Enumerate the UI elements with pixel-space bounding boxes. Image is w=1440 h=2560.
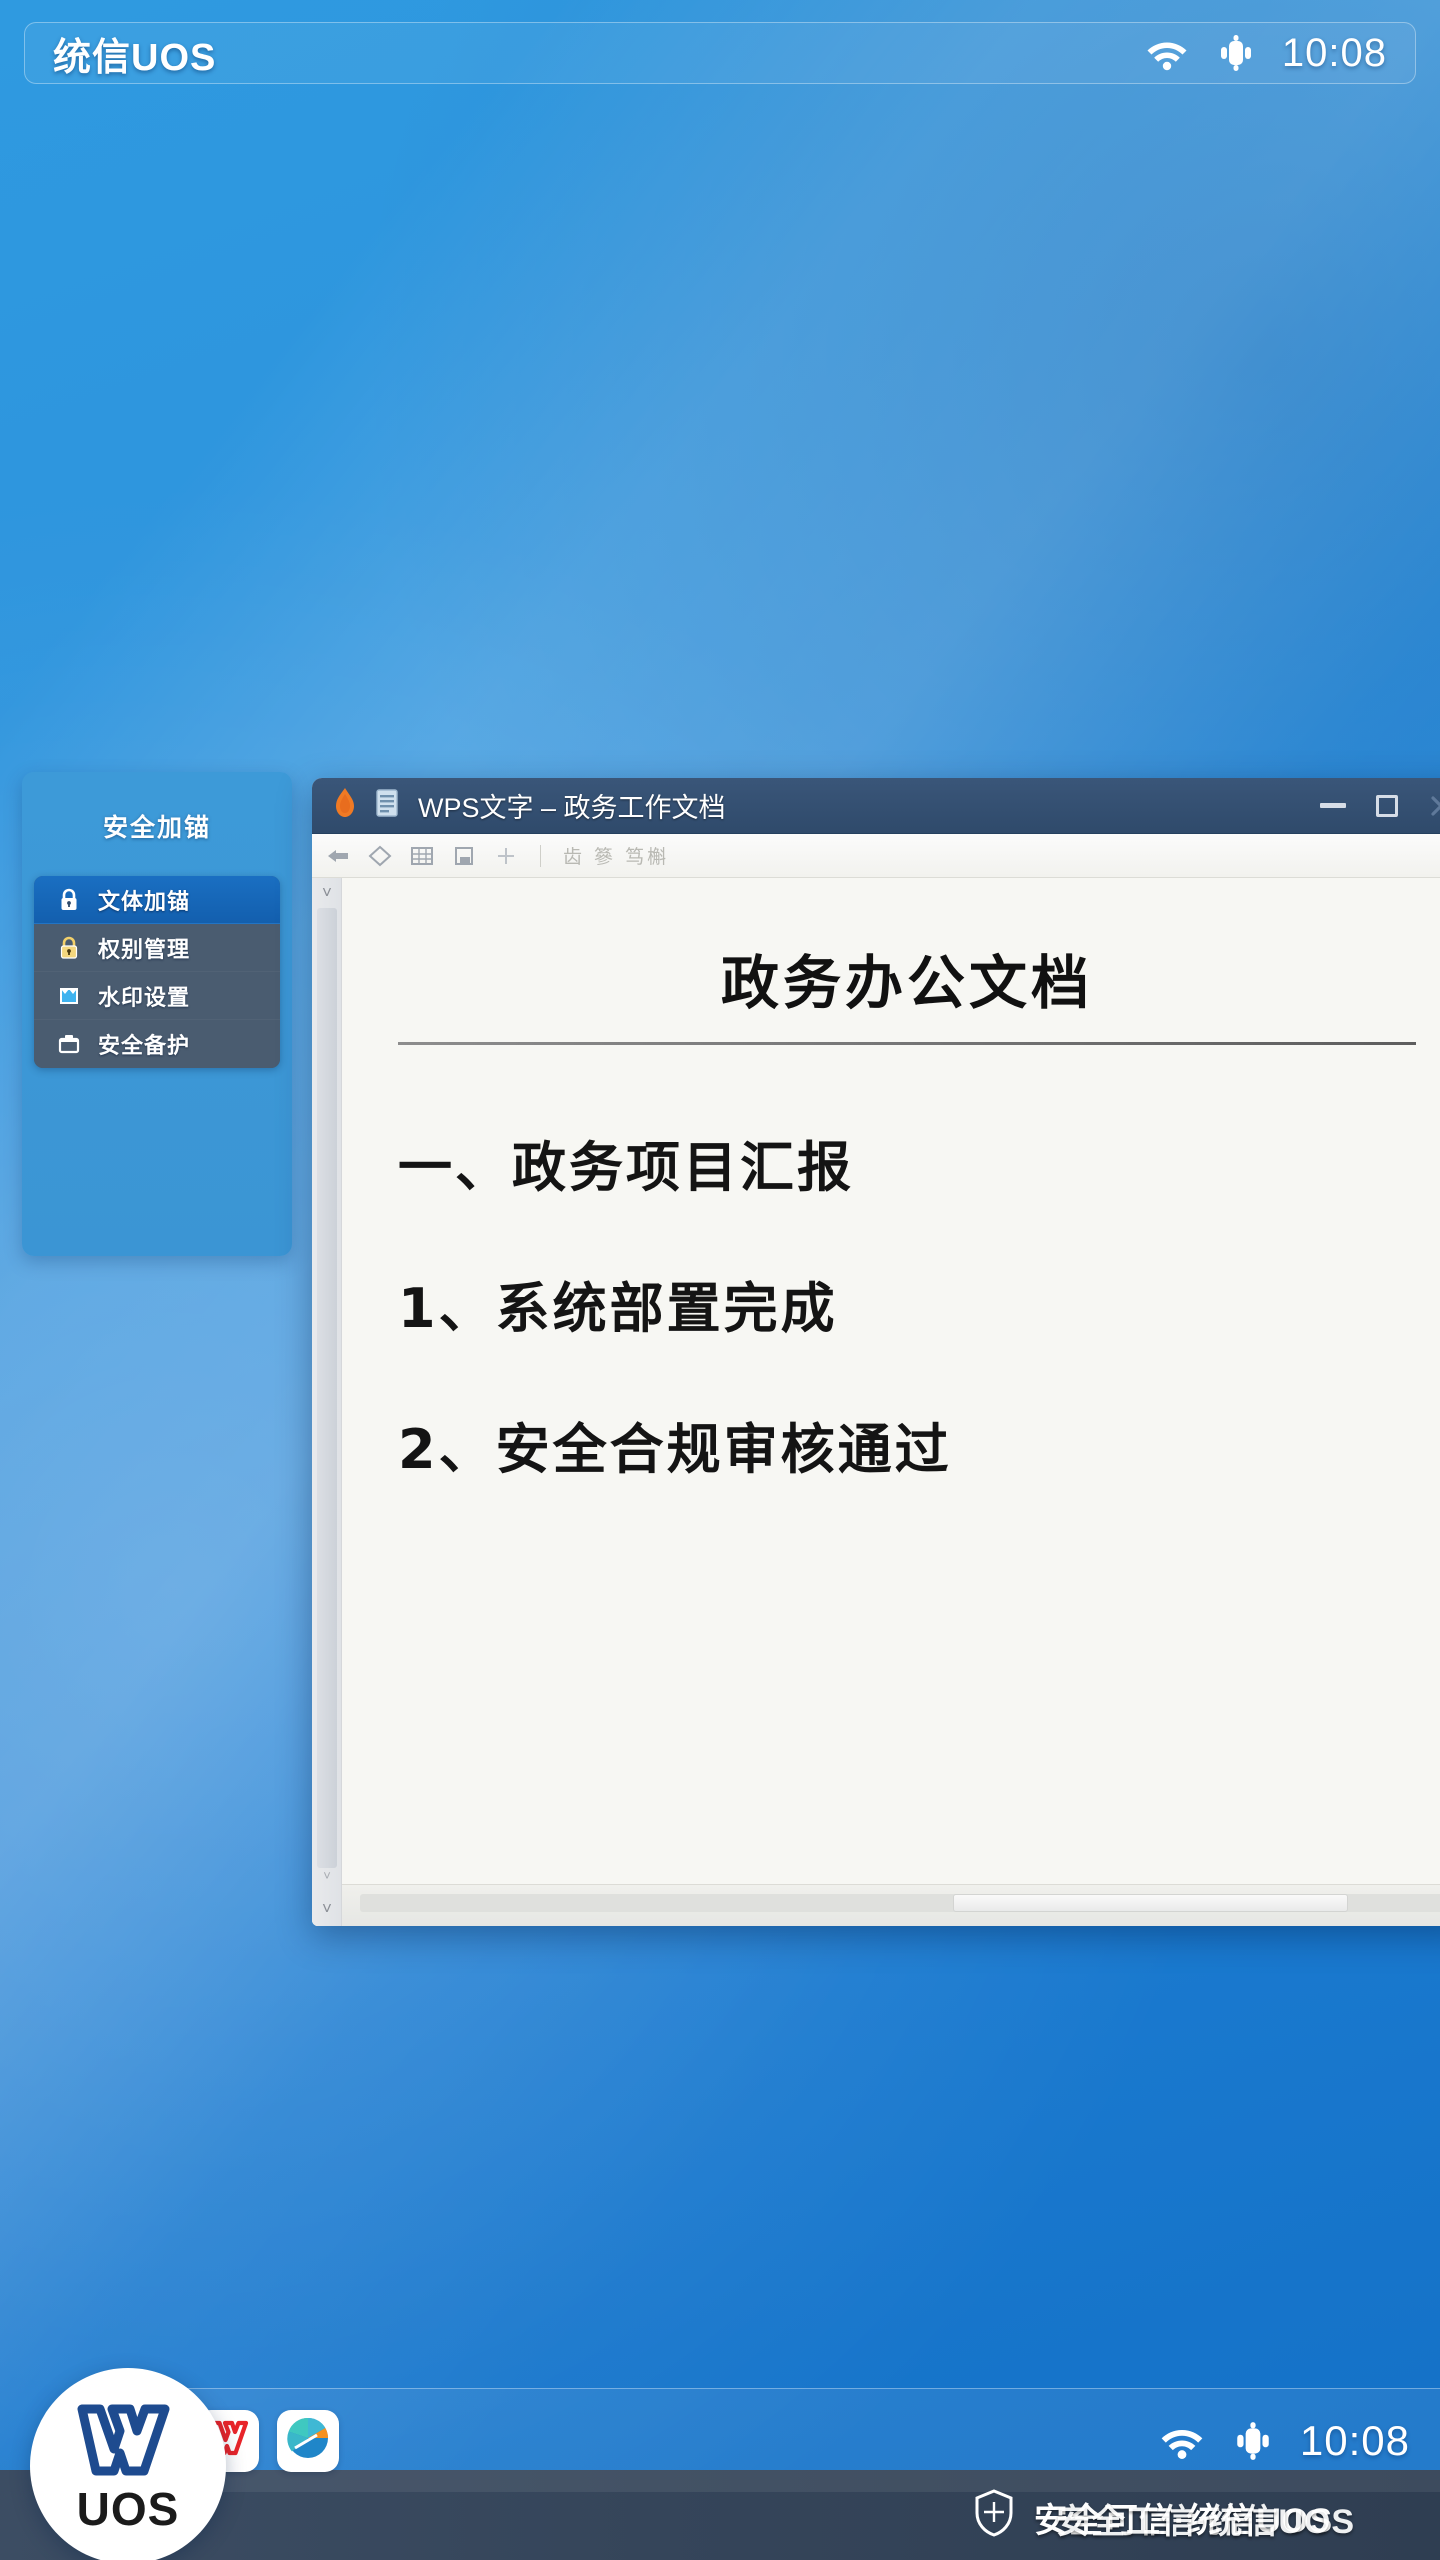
document-line-1: 一、政务项目汇报 — [398, 1123, 1416, 1202]
minimize-button[interactable] — [1306, 783, 1360, 829]
uos-logo-text: UOS — [77, 2486, 180, 2532]
top-status-tray: 10:08 — [1144, 31, 1387, 76]
close-button[interactable] — [1414, 783, 1440, 829]
sidebar-item-label: 权别管理 — [98, 932, 190, 964]
toolbar-extra-glyphs[interactable]: 齿 篸 笃槲 — [563, 842, 669, 869]
taskbar-clock: 10:08 — [1300, 2417, 1410, 2465]
vertical-scrollbar[interactable]: ˅ ˅ ˅ — [312, 878, 342, 1926]
shield-icon — [972, 2488, 1016, 2543]
table-grid-icon[interactable] — [410, 845, 434, 867]
taskbar-item-chart-app[interactable] — [277, 2410, 339, 2472]
watermark-icon — [56, 983, 82, 1009]
window-title: WPS文字 – 政务工作文档 — [418, 786, 726, 825]
document-area: ˅ ˅ ˅ 政务办公文档 一、政务项目汇报 1、系统部置完成 2、安全合规审核通… — [312, 878, 1440, 1926]
taskbar-tray: 10:08 — [1158, 2417, 1410, 2465]
maximize-button[interactable] — [1360, 783, 1414, 829]
horizontal-scrollbar[interactable] — [342, 1884, 1440, 1926]
sound-icon[interactable] — [1232, 2421, 1274, 2461]
wifi-icon[interactable] — [1144, 35, 1190, 71]
sidebar-item-file-encryption[interactable]: 文体加锚 — [34, 876, 280, 924]
sidebar-item-permission-management[interactable]: 权别管理 — [34, 924, 280, 972]
security-panel: 安全加锚 文体加锚 — [22, 772, 292, 1256]
uos-logo[interactable]: UOS — [30, 2368, 226, 2560]
lock-gold-icon — [56, 935, 82, 961]
document-line-3: 2、安全合规审核通过 — [398, 1405, 1416, 1484]
horizontal-scroll-track[interactable] — [360, 1894, 1440, 1912]
security-panel-title: 安全加锚 — [22, 772, 292, 844]
briefcase-icon — [56, 1031, 82, 1057]
scroll-collapse-chevron-icon[interactable]: ˅ — [316, 1864, 338, 1886]
pie-chart-icon — [285, 2415, 331, 2466]
shape-diamond-icon[interactable] — [368, 845, 392, 867]
footer-tagline-overlay-text: 安全工信·统信UOS — [1056, 2494, 1355, 2543]
system-brand-label: 统信UOS — [53, 26, 216, 81]
system-clock: 10:08 — [1282, 31, 1387, 76]
desktop-screen: 统信UOS 10:08 安全加锚 — [0, 0, 1440, 2560]
sidebar-item-label: 安全备护 — [98, 1028, 190, 1060]
footer-tagline: 安全可信·统信UOS 安全工信·统信UOS — [972, 2488, 1406, 2543]
toolbar-divider — [540, 845, 541, 867]
scroll-down-chevron-icon[interactable]: ˅ — [316, 1898, 338, 1920]
uos-w-mark-icon — [72, 2401, 184, 2484]
wps-flame-icon — [330, 787, 360, 824]
top-status-bar: 统信UOS 10:08 — [24, 22, 1416, 84]
window-toolbar: 齿 篸 笃槲 — [312, 834, 1440, 878]
wifi-icon[interactable] — [1158, 2422, 1206, 2460]
taskbar: 10:08 — [152, 2388, 1440, 2492]
wps-writer-window: WPS文字 – 政务工作文档 — [312, 778, 1440, 1926]
window-titlebar[interactable]: WPS文字 – 政务工作文档 — [312, 778, 1440, 834]
scroll-up-chevron-icon[interactable]: ˅ — [316, 882, 338, 904]
sidebar-item-watermark-settings[interactable]: 水印设置 — [34, 972, 280, 1020]
horizontal-scroll-thumb[interactable] — [953, 1894, 1348, 1912]
document-page[interactable]: 政务办公文档 一、政务项目汇报 1、系统部置完成 2、安全合规审核通过 — [342, 878, 1440, 1884]
sidebar-item-security-backup[interactable]: 安全备护 — [34, 1020, 280, 1068]
document-title-rule — [398, 1042, 1416, 1045]
window-controls — [1306, 783, 1440, 829]
document-title: 政务办公文档 — [398, 936, 1416, 1020]
document-icon — [374, 788, 400, 823]
vertical-scroll-thumb[interactable] — [317, 908, 337, 1868]
back-arrow-icon[interactable] — [326, 845, 350, 867]
sidebar-item-label: 水印设置 — [98, 980, 190, 1012]
clipboard-icon[interactable] — [452, 845, 476, 867]
add-plus-icon[interactable] — [494, 845, 518, 867]
security-menu-list: 文体加锚 权别管理 — [34, 876, 280, 1068]
lock-white-icon — [56, 887, 82, 913]
sound-icon[interactable] — [1216, 34, 1256, 72]
sidebar-item-label: 文体加锚 — [98, 884, 190, 916]
document-line-2: 1、系统部置完成 — [398, 1264, 1416, 1343]
